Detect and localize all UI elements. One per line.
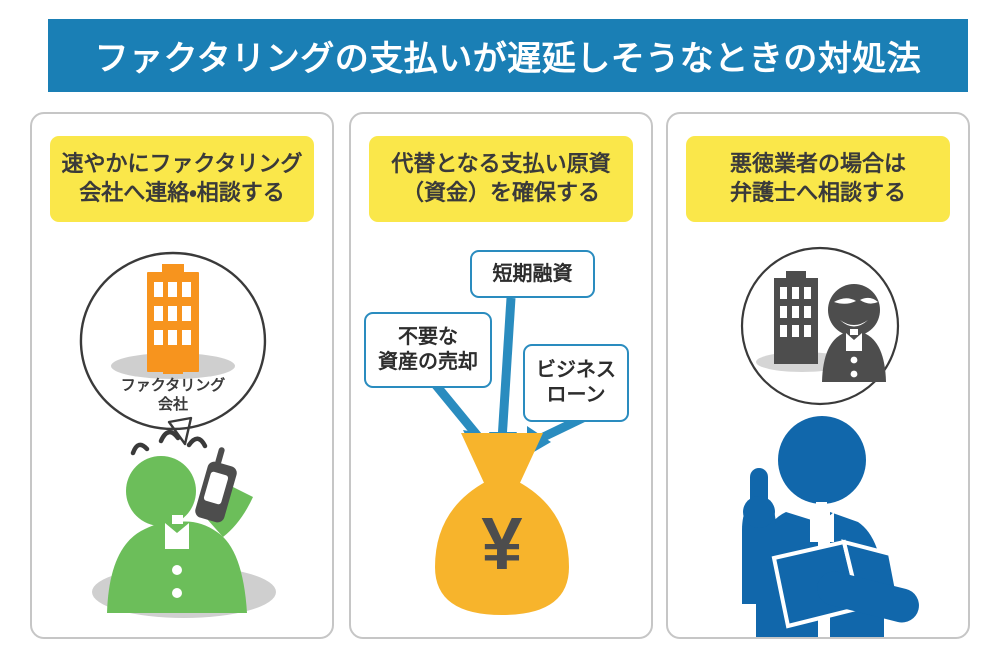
lawyer-pointing-icon (712, 402, 932, 637)
bubble-label-line-1: ファクタリング (73, 376, 273, 395)
panel-3-body (668, 244, 968, 637)
panel-3-heading: 悪徳業者の場合は 弁護士へ相談する (686, 136, 950, 222)
panel-3-heading-line-2: 弁護士へ相談する (692, 178, 944, 207)
panel-2-heading-line-1: 代替となる支払い原資 (375, 149, 627, 178)
panel-1-heading-line-2: 会社へ連絡・相談する (56, 178, 308, 207)
speech-bubble-icon: ファクタリング 会社 (73, 248, 273, 448)
panel-3-heading-line-1: 悪徳業者の場合は (692, 149, 944, 178)
tag-sell-unneeded-assets-line-2: 資産の売却 (378, 350, 478, 375)
panel-2-heading-line-2: （資金）を確保する (375, 178, 627, 207)
yen-symbol: ¥ (481, 502, 522, 585)
panel-consult-lawyer: 悪徳業者の場合は 弁護士へ相談する (666, 112, 970, 639)
tag-short-term-loan-line-1: 短期融資 (493, 262, 573, 287)
bubble-label: ファクタリング 会社 (73, 376, 273, 414)
panel-secure-alternative-funds: 代替となる支払い原資 （資金）を確保する 短期融資 (349, 112, 653, 639)
tag-short-term-loan[interactable]: 短期融資 (470, 250, 595, 298)
infographic-root: ファクタリングの支払いが遅延しそうなときの対処法 速やかにファクタリング 会社へ… (0, 0, 1000, 667)
panel-2-heading: 代替となる支払い原資 （資金）を確保する (369, 136, 633, 222)
page-title: ファクタリングの支払いが遅延しそうなときの対処法 (95, 31, 922, 80)
panel-1-heading: 速やかにファクタリング 会社へ連絡・相談する (50, 136, 314, 222)
shady-company-circle-icon (730, 244, 910, 409)
bubble-label-line-2: 会社 (73, 395, 273, 414)
tag-business-loan[interactable]: ビジネス ローン (523, 344, 629, 422)
person-on-phone-icon (89, 427, 279, 627)
panel-contact-factoring-company: 速やかにファクタリング 会社へ連絡・相談する (30, 112, 334, 639)
tag-sell-unneeded-assets[interactable]: 不要な 資産の売却 (364, 312, 492, 388)
tag-sell-unneeded-assets-line-1: 不要な (398, 325, 458, 350)
panel-1-body: ファクタリング 会社 (32, 244, 332, 637)
tag-business-loan-line-1: ビジネス (536, 358, 616, 383)
money-bag-icon: ¥ (427, 429, 577, 619)
panel-1-heading-line-1: 速やかにファクタリング (56, 149, 308, 178)
panel-2-body: 短期融資 不要な 資産の売却 ビジネス ローン ¥ (351, 244, 651, 637)
page-title-bar: ファクタリングの支払いが遅延しそうなときの対処法 (48, 19, 968, 92)
tag-business-loan-line-2: ローン (547, 383, 606, 408)
